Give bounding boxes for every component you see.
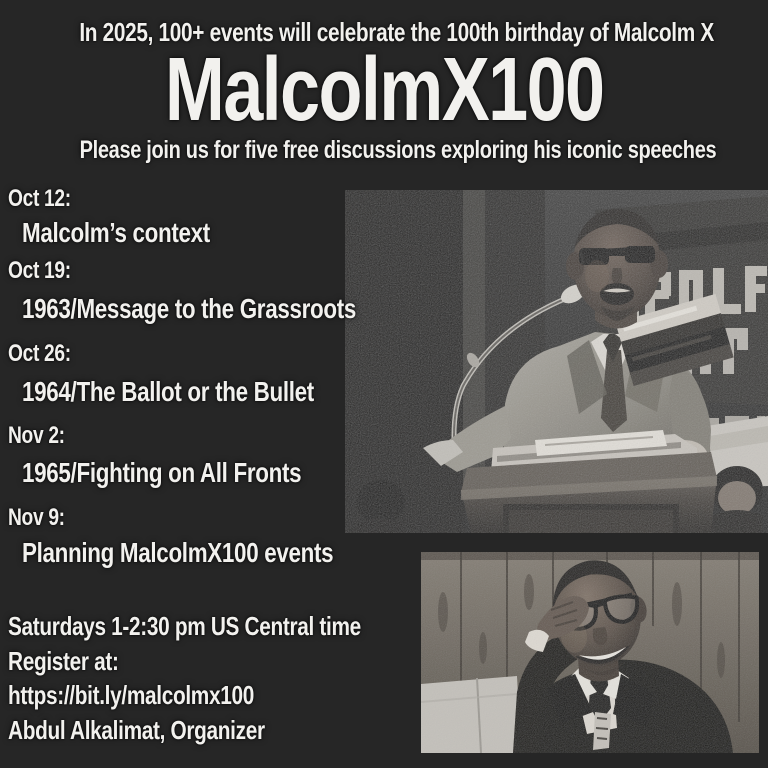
malcolm-x-speaking-illustration — [345, 190, 768, 533]
event-date-3: Oct 26: — [8, 341, 87, 367]
event-topic-1-text: Malcolm’s context — [22, 218, 210, 248]
event-topic-4-text: 1965/Fighting on All Fronts — [22, 458, 301, 488]
event-date-4: Nov 2: — [8, 423, 79, 449]
event-topic-2: 1963/Message to the Grassroots — [22, 294, 440, 324]
malcolm-x-portrait-illustration — [421, 552, 759, 753]
event-topic-5: Planning MalcolmX100 events — [22, 538, 411, 568]
event-date-1-text: Oct 12: — [8, 186, 71, 212]
event-date-2-text: Oct 19: — [8, 258, 71, 284]
organizer-text: Abdul Alkalimat, Organizer — [8, 716, 265, 745]
event-topic-2-text: 1963/Message to the Grassroots — [22, 294, 356, 324]
event-topic-4: 1965/Fighting on All Fronts — [22, 458, 371, 488]
event-topic-3-text: 1964/The Ballot or the Bullet — [22, 377, 314, 407]
tagline-sub: Please join us for five free discussions… — [0, 136, 768, 165]
event-topic-1: Malcolm’s context — [22, 218, 257, 248]
register-url-text: https://bit.ly/malcolmx100 — [8, 681, 254, 710]
tagline-sub-text: Please join us for five free discussions… — [80, 136, 717, 165]
register-label-text: Register at: — [8, 647, 119, 676]
page-title-text: MalcolmX100 — [165, 42, 604, 138]
malcolm-x-portrait-photo — [421, 552, 759, 753]
event-topic-5-text: Planning MalcolmX100 events — [22, 538, 333, 568]
event-date-1: Oct 12: — [8, 186, 87, 212]
event-date-4-text: Nov 2: — [8, 423, 65, 449]
event-date-5-text: Nov 9: — [8, 505, 65, 531]
organizer-line: Abdul Alkalimat, Organizer — [8, 716, 329, 745]
poster-canvas: In 2025, 100+ events will celebrate the … — [0, 0, 768, 768]
schedule-text: Saturdays 1-2:30 pm US Central time — [8, 612, 361, 641]
event-date-5: Nov 9: — [8, 505, 79, 531]
register-url-link[interactable]: https://bit.ly/malcolmx100 — [8, 681, 315, 710]
event-topic-3: 1964/The Ballot or the Bullet — [22, 377, 387, 407]
register-label: Register at: — [8, 647, 146, 676]
page-title: MalcolmX100 — [0, 42, 768, 138]
malcolm-x-speaking-photo — [345, 190, 768, 533]
schedule-line: Saturdays 1-2:30 pm US Central time — [8, 612, 449, 641]
event-date-2: Oct 19: — [8, 258, 87, 284]
event-date-3-text: Oct 26: — [8, 341, 71, 367]
